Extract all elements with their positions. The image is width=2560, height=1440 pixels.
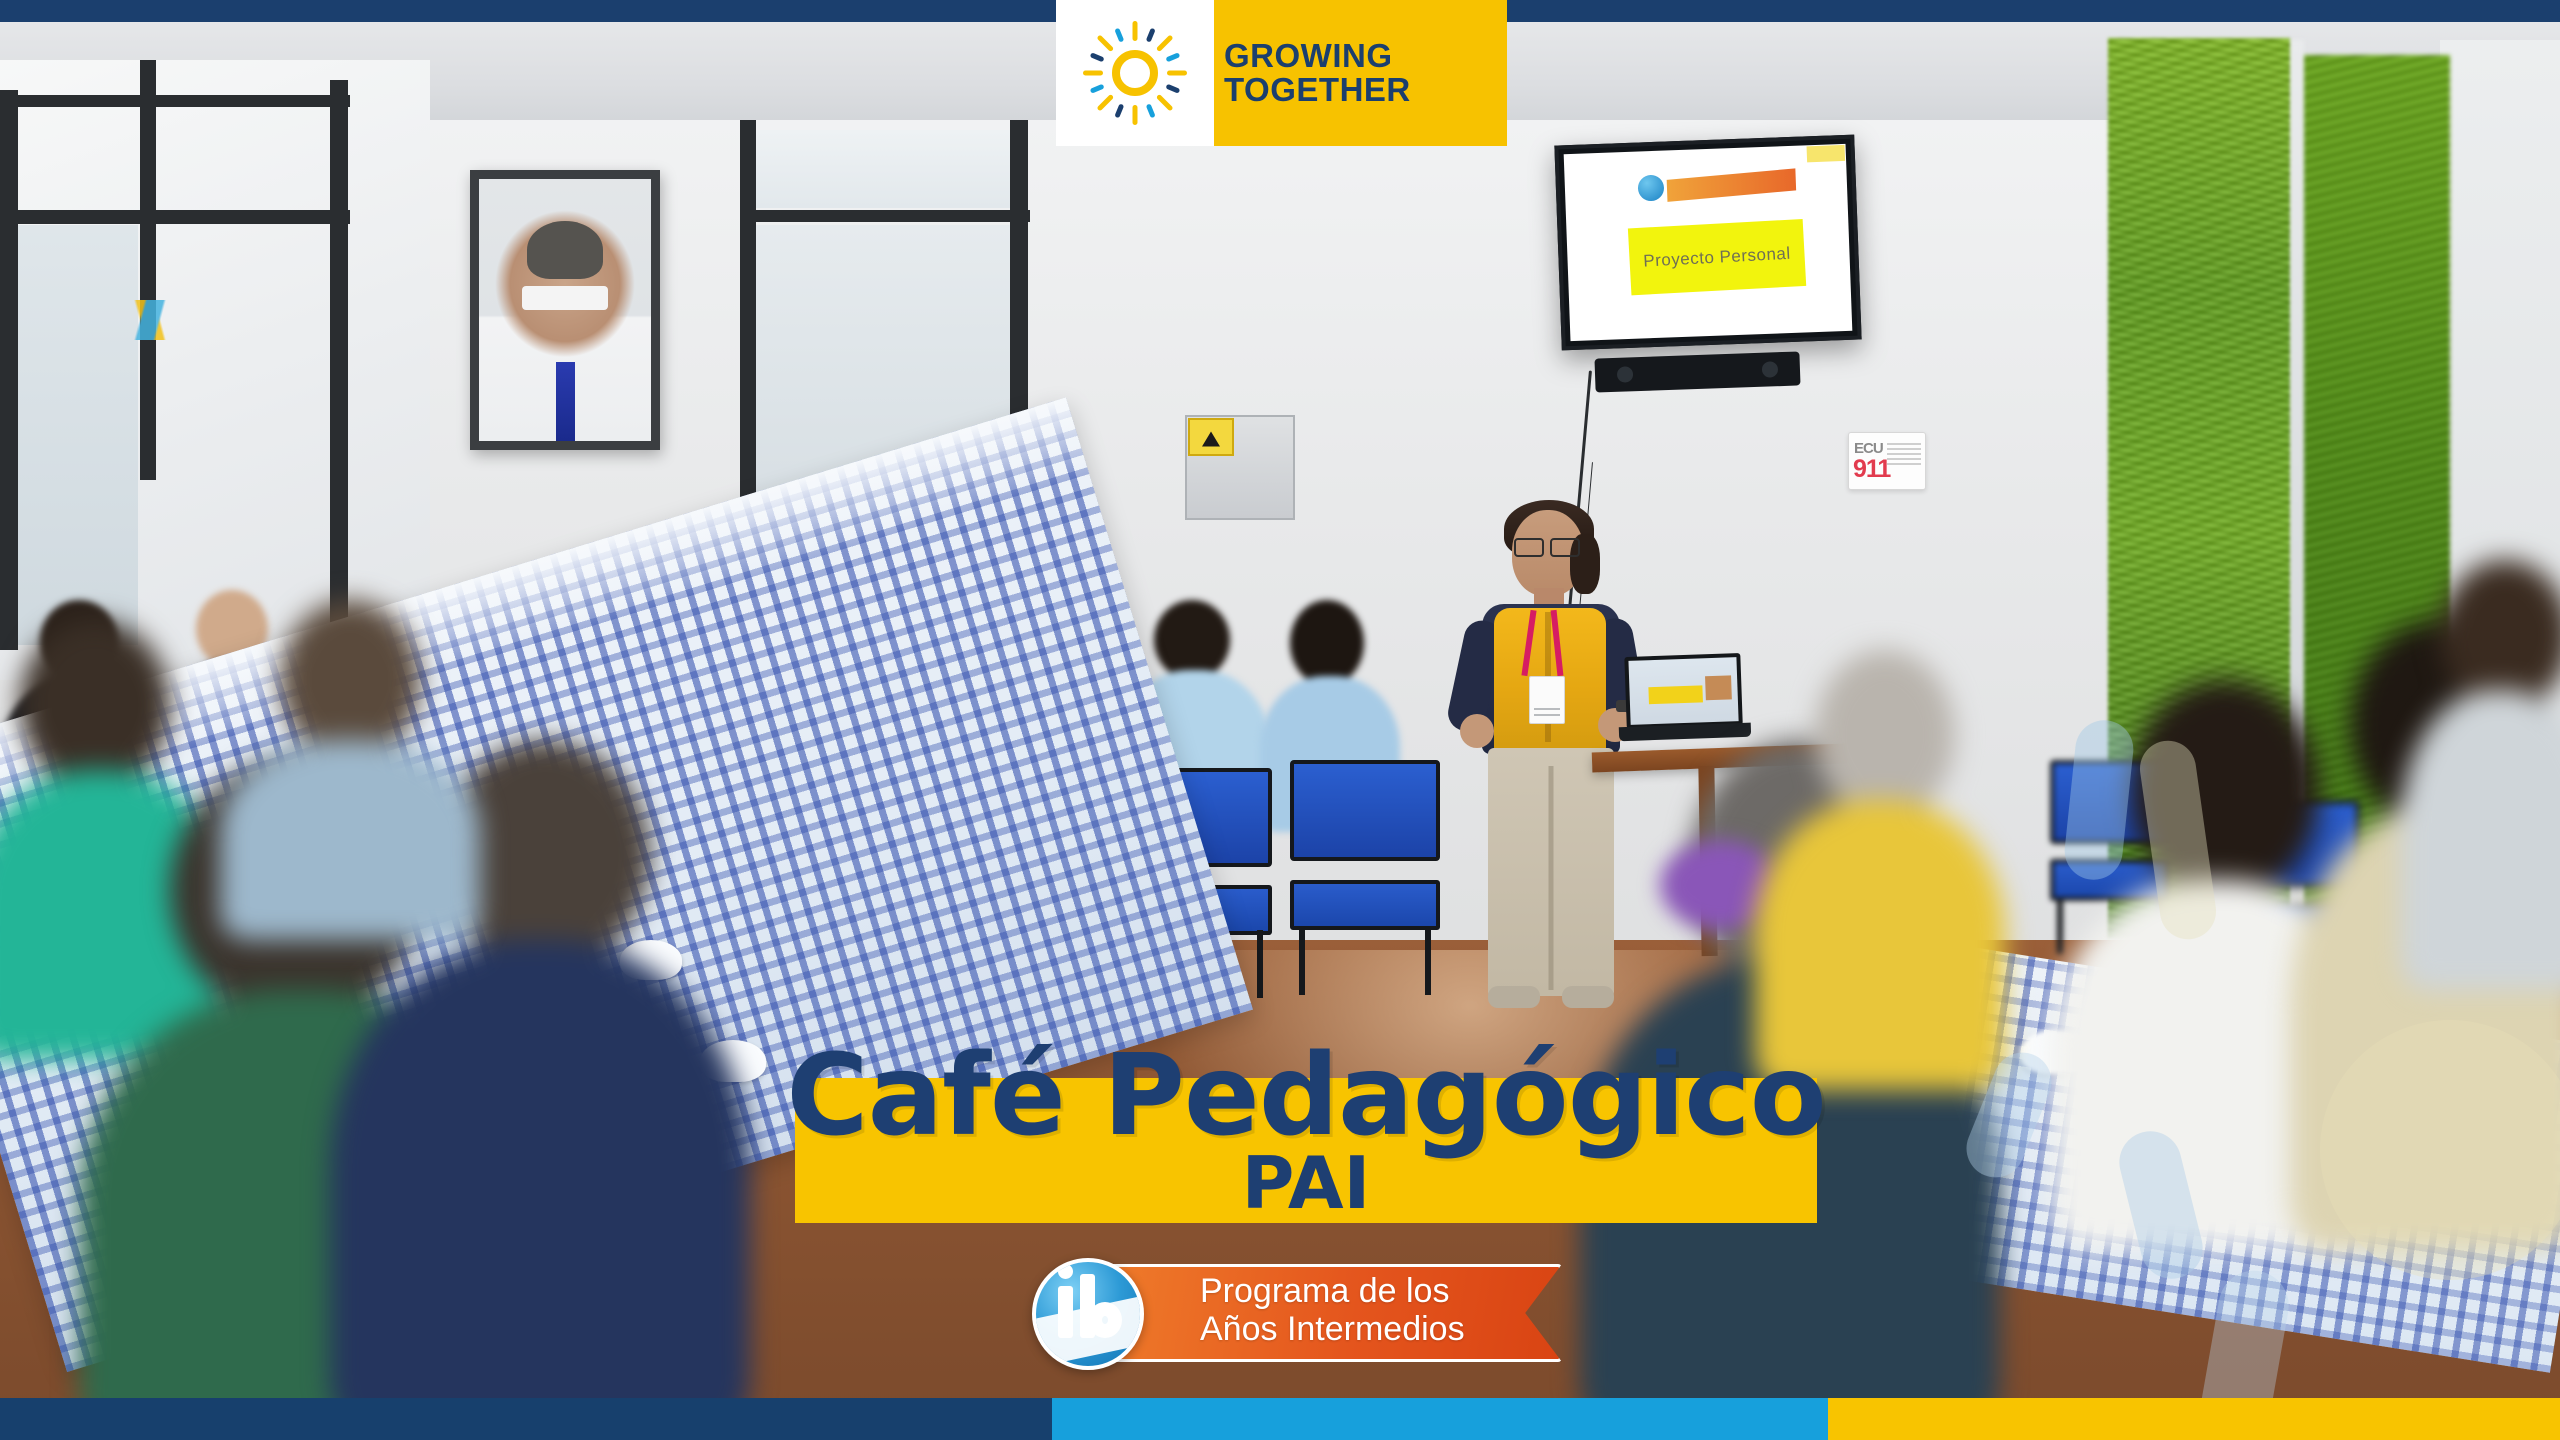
page-subtitle: PAI	[1242, 1146, 1371, 1222]
bottom-bar-cyan	[1052, 1398, 1828, 1440]
slide-content: Proyecto Personal	[1564, 144, 1853, 341]
tv-wall-mount	[1594, 351, 1800, 392]
presentation-screen: Proyecto Personal	[1554, 135, 1861, 351]
ecu911-sign: ECU 911	[1848, 432, 1926, 490]
bunting-decoration	[20, 300, 280, 340]
chair	[1290, 760, 1440, 990]
slide-heading-box: Proyecto Personal	[1628, 219, 1806, 296]
bottom-bar-yellow	[1828, 1398, 2560, 1440]
ib-line-2: Años Intermedios	[1200, 1310, 1465, 1348]
window-frame	[0, 210, 350, 224]
name-badge	[1529, 676, 1565, 724]
slide-heading: Proyecto Personal	[1643, 243, 1791, 271]
framed-portrait	[470, 170, 660, 450]
sun-ray	[1090, 52, 1105, 62]
top-bar-right	[1507, 0, 2560, 22]
window-frame	[740, 210, 1030, 222]
ecu-text-block	[1887, 443, 1921, 465]
window-frame	[330, 80, 348, 640]
sun-ray	[1156, 94, 1174, 112]
logo-line-1: GROWING	[1224, 39, 1507, 73]
window-frame	[140, 60, 156, 480]
window-frame	[740, 120, 756, 550]
audience-member	[1755, 650, 2005, 1080]
sun-icon	[1083, 21, 1187, 125]
sun-ray	[1133, 105, 1138, 125]
window-pane	[756, 130, 1011, 208]
sun-ray	[1133, 21, 1138, 41]
bottom-color-bar	[0, 1398, 2560, 1440]
warning-label-icon	[1188, 418, 1234, 456]
sun-ray	[1167, 71, 1187, 76]
sun-ray	[1096, 94, 1114, 112]
sun-ray	[1165, 52, 1180, 62]
title-block: Café Pedagógico PAI	[795, 1040, 1817, 1250]
logo-line-2: TOGETHER	[1224, 73, 1507, 107]
ecu-label-line2: 911	[1853, 455, 1890, 484]
window-pane	[18, 225, 138, 645]
page-title: Café Pedagógico	[786, 1040, 1825, 1152]
audience-member	[2400, 560, 2560, 980]
glasses-icon	[1514, 538, 1580, 553]
sun-ray	[1114, 28, 1124, 43]
audience-member	[220, 600, 480, 930]
sun-ray	[1114, 103, 1124, 118]
sun-ray	[1090, 84, 1105, 94]
logo-mark-container	[1056, 0, 1214, 146]
poster-canvas: Proyecto Personal ECU 911	[0, 0, 2560, 1440]
top-bar-left	[0, 0, 1056, 22]
bottom-bar-navy	[0, 1398, 1052, 1440]
window-frame	[0, 95, 350, 107]
ib-logo-icon	[1032, 1258, 1144, 1370]
ib-line-1: Programa de los	[1200, 1272, 1465, 1310]
sun-ray	[1165, 84, 1180, 94]
ib-programme-badge: Programa de los Años Intermedios	[1032, 1258, 1572, 1368]
sun-ray	[1083, 71, 1103, 76]
sun-ray	[1156, 34, 1174, 52]
sun-ray	[1146, 103, 1156, 118]
window-frame	[0, 90, 18, 650]
slide-ib-logo	[1638, 163, 1797, 210]
sun-ray	[1096, 34, 1114, 52]
logo-wordmark: GROWING TOGETHER	[1214, 0, 1507, 146]
slide-corner-accent	[1807, 145, 1846, 162]
brand-logo-lockup: GROWING TOGETHER	[1056, 0, 1507, 146]
ib-text: Programa de los Años Intermedios	[1200, 1272, 1465, 1348]
sun-ray	[1146, 28, 1156, 43]
